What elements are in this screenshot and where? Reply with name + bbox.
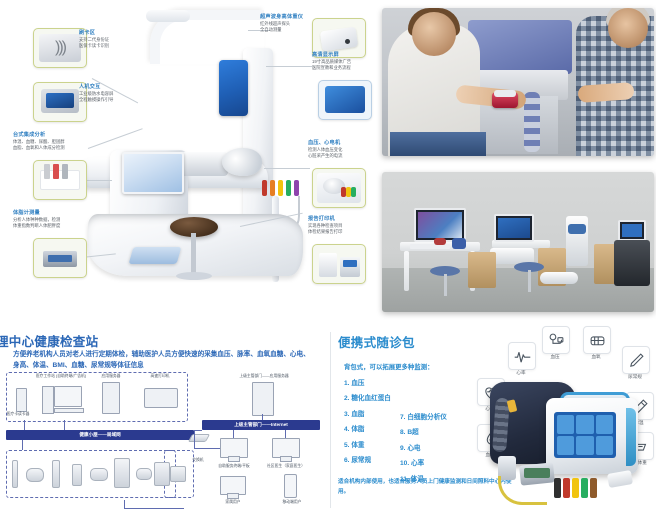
- callout-title: 超声波身高体重仪: [260, 14, 303, 21]
- portable-bag-panel: 便携式随诊包 背包式，可以拓展更多种监测： 1. 血压 2. 糖化血红蛋白 3.…: [330, 320, 656, 521]
- ecg-machine-icon: [312, 168, 366, 208]
- nurse-photo: [382, 8, 654, 156]
- network-title: 理中心健康检查站: [0, 331, 98, 350]
- report-printer-icon: [312, 244, 366, 284]
- desk-leg: [404, 251, 409, 291]
- accessory-cable: [498, 476, 547, 505]
- device-cart: [154, 462, 170, 486]
- tower-screen: [568, 224, 586, 234]
- device-height-meter: [12, 460, 18, 488]
- bag-items-right: 7. 白细胞分析仪 8. B超 9. 心电 10. 心率 11. 体温: [400, 410, 447, 487]
- kiosk-main-touchscreen: [122, 152, 184, 194]
- kiosk-floor-scale: [129, 247, 182, 264]
- icon-label: 血压: [535, 354, 575, 360]
- callout-printer-text: 报告打印机 实现各种检查项目 体检结果报告打印: [308, 216, 342, 235]
- list-item: 6. 尿常规: [344, 453, 391, 468]
- callout-desc-line: 体温、血糖、尿酸、胆固醇: [13, 139, 65, 145]
- callout-desc-line: 全程触摸操作引导: [79, 97, 113, 103]
- device-fat-scale: [136, 468, 152, 480]
- kiosk-vertical-display: [219, 60, 248, 116]
- monitor-side-panel: [626, 408, 636, 466]
- photo-column: [382, 8, 654, 318]
- list-item: 8. B超: [400, 425, 447, 440]
- patient-head: [608, 8, 648, 48]
- callout-desc-line: 检测人体血压变化: [308, 147, 342, 153]
- callout-desc-line: 医院宣教和业务流程: [312, 65, 351, 71]
- red-device: [434, 238, 446, 245]
- list-item: 2. 糖化血红蛋白: [344, 391, 391, 406]
- callout-desc-line: 体重指数判断人体肥胖度: [13, 223, 60, 229]
- heart-rate-icon: [508, 342, 536, 370]
- probe-holder: [524, 92, 540, 152]
- kiosk-bp-cuff: [222, 148, 262, 176]
- node-label: 高速打印机: [138, 374, 182, 379]
- internet-bar: 上级主管部门——Internet: [202, 420, 320, 430]
- server-rack: [614, 240, 650, 286]
- callout-printer[interactable]: [312, 244, 366, 284]
- node-label: 家属用户: [212, 500, 254, 505]
- device-bp-monitor: [26, 468, 44, 482]
- handheld-device-top: [494, 90, 516, 97]
- list-item: 4. 体脂: [344, 422, 391, 437]
- monitor-2: [494, 214, 534, 242]
- floor-unit: [540, 272, 578, 284]
- node-label: 应用服务器: [90, 374, 132, 379]
- callout-desc-line: 医保卡读卡识别: [79, 43, 109, 49]
- urine-test-icon: [622, 346, 650, 374]
- node-label: 上级主管部门——应用服务器: [226, 374, 302, 379]
- network-switch: [188, 434, 210, 442]
- callout-ecg[interactable]: [312, 168, 366, 208]
- monitor-3: [618, 220, 646, 241]
- network-panel: 理中心健康检查站 方便养老机构人员对老人进行定期体检，辅助医护人员方便快速的采集…: [0, 320, 330, 521]
- bag-items-left: 1. 血压 2. 糖化血红蛋白 3. 血脂 4. 体脂 5. 体重 6. 尿常规: [344, 376, 391, 469]
- node-label: 医疗卡读卡器: [0, 412, 41, 417]
- panel-divider: [330, 332, 331, 508]
- icon-label: 血氧: [576, 354, 616, 360]
- lan-bar: 健康小屋——局域网: [6, 430, 194, 440]
- device-analyzer: [72, 464, 82, 486]
- bag-subtitle: 背包式，可以拓展更多种监测：: [344, 362, 433, 371]
- callout-desc-line: 心脏采产生的电流: [308, 153, 342, 159]
- blood-oxygen-icon: [583, 326, 611, 354]
- monitor-screen: [554, 412, 616, 458]
- stool-leg: [444, 274, 447, 296]
- callout-ecg-text: 血压、心电机 检测人体血压变化 心脏采产生的电流: [308, 140, 342, 159]
- callout-desc-line: 支持二代身份证: [79, 37, 109, 43]
- test-strip-icon: [33, 160, 87, 200]
- device-ecg: [90, 468, 108, 481]
- poster-page: ))) 刷卡区 支持二代身份证 医保卡读卡识别 人机交互 工业级防水电容屏 全程…: [0, 0, 656, 521]
- kiosk-printer-module: [178, 152, 228, 176]
- list-item: 3. 血脂: [344, 407, 391, 422]
- callout-desc-line: 血脂、血氧和人体成分检测: [13, 145, 65, 151]
- callout-desc-line: 工业级防水电容屏: [79, 91, 113, 97]
- callout-title: 血压、心电机: [308, 140, 342, 147]
- nurse-head: [412, 12, 456, 56]
- node-label: 自助服务终端/平板: [210, 464, 258, 469]
- callout-desc-line: 实现各种检查项目: [308, 223, 342, 229]
- callout-bodyfat-text: 体脂计测量 分析人体种种数据，检测 体重指数判断人体肥胖度: [13, 210, 60, 229]
- callout-desc-line: 全自动测量: [260, 27, 303, 33]
- kiosk-diagram-panel: ))) 刷卡区 支持二代身份证 医保卡读卡识别 人机交互 工业级防水电容屏 全程…: [0, 0, 380, 318]
- body-fat-scale-icon: [33, 238, 87, 278]
- clinic-room-photo: [382, 172, 654, 312]
- callout-bodyfat[interactable]: [33, 238, 87, 278]
- leader-line: [266, 66, 312, 67]
- network-topology-diagram: 医疗卡读卡器 医疗工作站 (自助终端/广告机) 应用服务器 高速打印机 健康小屋…: [4, 372, 320, 512]
- internet-bar-label: 上级主管部门——Internet: [234, 422, 288, 428]
- node-label: 医疗工作站 (自助终端/广告机): [34, 374, 88, 379]
- kiosk-stool-pole: [191, 233, 196, 277]
- callout-analyzer-text: 台式集成分析 体温、血糖、尿酸、胆固醇 血脂、血氧和人体成分检测: [13, 132, 65, 151]
- nurse-trousers: [390, 132, 486, 156]
- monitor-1: [414, 208, 466, 242]
- callout-ultrasonic-text: 超声波身高体重仪 红外线超声探头 全自动测量: [260, 14, 303, 33]
- bedside-device: [452, 238, 466, 249]
- stool-leg: [528, 270, 531, 292]
- lan-bar-label: 健康小屋——局域网: [79, 432, 120, 438]
- device-scale-stand: [52, 460, 60, 488]
- kiosk-stool-foot: [176, 272, 212, 280]
- list-item: 5. 体重: [344, 438, 391, 453]
- leader-line: [264, 168, 310, 169]
- list-item: 1. 血压: [344, 376, 391, 391]
- callout-display[interactable]: [318, 80, 372, 120]
- spo2-sensor: [607, 470, 633, 488]
- callout-desc-line: 体检结果报告打印: [308, 229, 342, 235]
- ultrasound-console: [468, 20, 572, 74]
- node-label: 交换机: [180, 458, 216, 463]
- ecg-clip-set: [554, 478, 598, 500]
- list-item: 10. 心率: [400, 456, 447, 471]
- callout-desc-line: 分析人体种种数据，检测: [13, 217, 60, 223]
- device-kiosk: [114, 458, 130, 488]
- cabinet-1: [468, 252, 496, 288]
- network-description: 方便养老机构人员对老人进行定期体检，辅助医护人员方便快速的采集血压、脉率、血氧血…: [13, 350, 313, 371]
- callout-rfid-text: 刷卡区 支持二代身份证 医保卡读卡识别: [79, 30, 109, 49]
- list-item: 7. 白细胞分析仪: [400, 410, 447, 425]
- callout-analyzer[interactable]: [33, 160, 87, 200]
- hd-display-icon: [318, 80, 372, 120]
- kiosk-arm-sensor: [146, 10, 190, 22]
- callout-desc-line: 19寸高品质媒体广告: [312, 59, 351, 65]
- list-item: 9. 心电: [400, 441, 447, 456]
- callout-display-text: 高清显示屏 19寸高品质媒体广告 医院宣教和业务流程: [312, 52, 351, 71]
- node-label: 移动端用户: [270, 500, 314, 505]
- node-label: 社区医生（家庭医生）: [260, 464, 312, 469]
- callout-hmi-text: 人机交互 工业级防水电容屏 全程触摸操作引导: [79, 84, 113, 103]
- device-gateway: [170, 466, 186, 482]
- blood-pressure-icon: [542, 326, 570, 354]
- portable-bag-illustration: [480, 372, 656, 512]
- bag-title: 便携式随诊包: [338, 332, 415, 351]
